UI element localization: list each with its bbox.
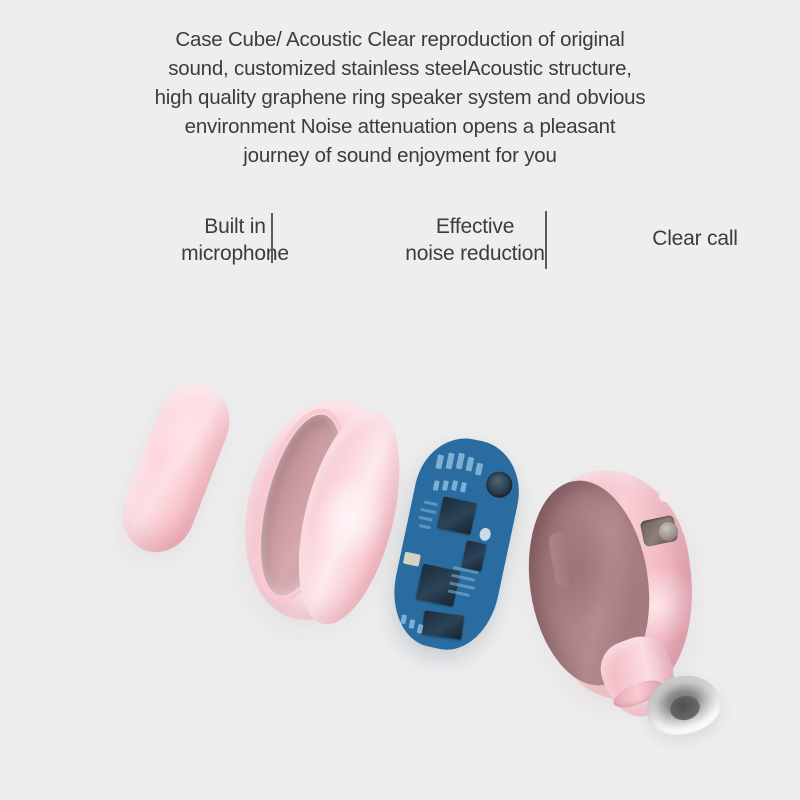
pcb-pad (456, 453, 465, 470)
feature-divider-1 (271, 213, 273, 263)
pcb-chip-small (461, 540, 486, 572)
exploded-view-illustration (0, 330, 800, 800)
headline-paragraph: Case Cube/ Acoustic Clear reproduction o… (60, 25, 740, 170)
pcb-pad (409, 619, 416, 629)
feature-divider-2 (545, 211, 547, 269)
ring-shell-part (223, 384, 419, 637)
pcb-round-component (484, 469, 515, 500)
pcb-trace (419, 524, 431, 529)
pcb-pad (433, 480, 440, 491)
pcb-chip-main (437, 496, 477, 534)
pcb-pad (435, 454, 444, 469)
earbud-led-indicator (659, 492, 671, 502)
pcb-trace (424, 500, 438, 506)
pcb-pad (400, 614, 407, 624)
pcb-chip-lower (421, 610, 464, 639)
capsule-lid-part (111, 373, 241, 563)
pcb-trace (418, 516, 432, 522)
pcb-pad (451, 480, 458, 491)
pcb-pad (446, 453, 455, 470)
pcb-trace (420, 508, 436, 514)
pcb-pad (475, 463, 483, 476)
pcb-pad (466, 457, 475, 472)
feature-clear-call: Clear call (570, 225, 800, 252)
pcb-white-marker (478, 527, 491, 542)
earbud-magnet (659, 522, 678, 541)
product-marketing-page: Case Cube/ Acoustic Clear reproduction o… (0, 0, 800, 800)
feature-strip: Built in microphone Effective noise redu… (60, 205, 740, 285)
pcb-gold-contact (403, 552, 421, 567)
earbud-body-part (528, 470, 700, 710)
pcb-pad (442, 480, 449, 491)
pcb-pad (460, 482, 467, 493)
